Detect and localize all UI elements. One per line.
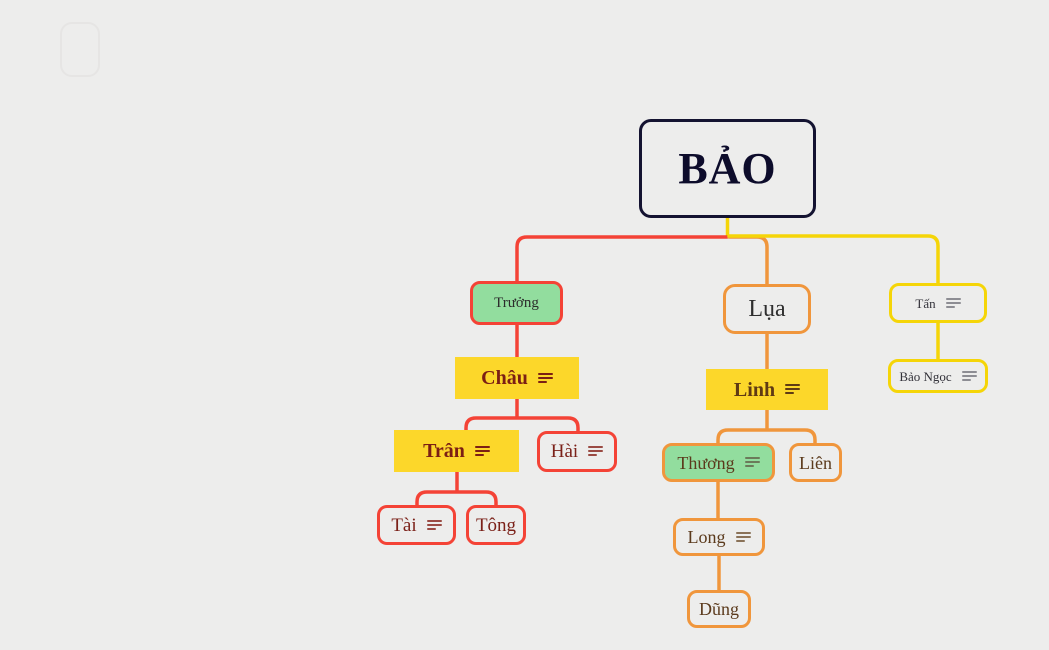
node-hai-label: Hài [551, 442, 578, 461]
node-tan-label: Tấn [915, 297, 935, 310]
notes-icon[interactable] [745, 457, 760, 468]
notes-icon[interactable] [588, 446, 603, 457]
node-baongoc-label: Bảo Ngọc [899, 370, 951, 383]
notes-icon[interactable] [538, 373, 553, 384]
node-truong[interactable]: Trưởng [470, 281, 563, 325]
notes-icon[interactable] [785, 384, 800, 395]
node-tran[interactable]: Trân [394, 430, 519, 472]
node-chau[interactable]: Châu [455, 357, 579, 399]
node-dung[interactable]: Dũng [687, 590, 751, 628]
node-root-label: BẢO [678, 147, 776, 191]
notes-icon[interactable] [736, 532, 751, 543]
node-long[interactable]: Long [673, 518, 765, 556]
node-baongoc[interactable]: Bảo Ngọc [888, 359, 988, 393]
node-thuong[interactable]: Thương [662, 443, 775, 482]
node-dung-label: Dũng [699, 600, 739, 618]
node-lien[interactable]: Liên [789, 443, 842, 482]
notes-icon[interactable] [962, 371, 977, 382]
node-root[interactable]: BẢO [639, 119, 816, 218]
node-truong-label: Trưởng [494, 296, 539, 311]
node-linh-label: Linh [734, 380, 775, 400]
node-lua[interactable]: Lụa [723, 284, 811, 334]
node-tran-label: Trân [423, 441, 465, 461]
node-linh[interactable]: Linh [706, 369, 828, 410]
node-chau-label: Châu [481, 368, 528, 388]
notes-icon[interactable] [946, 298, 961, 309]
notes-icon[interactable] [475, 446, 490, 457]
node-long-label: Long [688, 528, 726, 546]
node-tai[interactable]: Tài [377, 505, 456, 545]
node-thuong-label: Thương [677, 454, 734, 472]
notes-icon[interactable] [427, 520, 442, 531]
node-lua-label: Lụa [748, 297, 785, 321]
placeholder-node[interactable] [60, 22, 100, 77]
node-tong[interactable]: Tông [466, 505, 526, 545]
connector-layer [0, 0, 1049, 650]
node-lien-label: Liên [799, 454, 832, 472]
node-tai-label: Tài [391, 516, 416, 535]
node-tan[interactable]: Tấn [889, 283, 987, 323]
node-hai[interactable]: Hài [537, 431, 617, 472]
mindmap-canvas[interactable]: BẢO Trưởng Châu Trân Hài Tài Tông Lụa [0, 0, 1049, 650]
node-tong-label: Tông [476, 516, 516, 535]
